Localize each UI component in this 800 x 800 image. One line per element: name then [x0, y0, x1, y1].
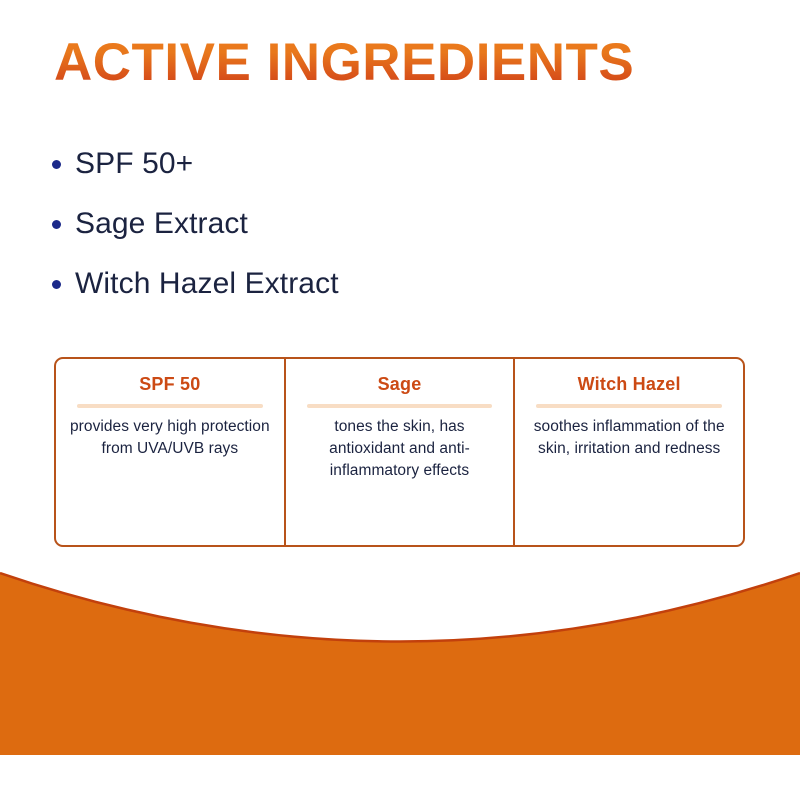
column-header: Witch Hazel: [578, 373, 681, 395]
list-item: Sage Extract: [52, 194, 652, 254]
table-column-spf50: SPF 50 provides very high protection fro…: [56, 359, 284, 545]
ingredient-info-table: SPF 50 provides very high protection fro…: [54, 357, 745, 547]
column-body-text: provides very high protection from UVA/U…: [70, 416, 270, 460]
bullet-dot-icon: [52, 160, 61, 169]
column-divider-rule: [77, 404, 263, 408]
bullet-label: SPF 50+: [75, 147, 193, 181]
bullet-dot-icon: [52, 220, 61, 229]
orange-curve-shape: [0, 573, 800, 755]
column-header: Sage: [378, 373, 422, 395]
page-title: ACTIVE INGREDIENTS: [54, 33, 754, 93]
column-divider-rule: [307, 404, 493, 408]
column-body-text: soothes inflammation of the skin, irrita…: [529, 416, 729, 460]
list-item: SPF 50+: [52, 134, 652, 194]
table-column-sage: Sage tones the skin, has antioxidant and…: [284, 359, 514, 545]
column-header: SPF 50: [139, 373, 200, 395]
table-column-witch-hazel: Witch Hazel soothes inflammation of the …: [513, 359, 743, 545]
column-body-text: tones the skin, has antioxidant and anti…: [300, 416, 500, 482]
slide-canvas: ACTIVE INGREDIENTS SPF 50+ Sage Extract …: [0, 0, 800, 800]
bullet-label: Witch Hazel Extract: [75, 267, 339, 301]
orange-curve-band: [0, 560, 800, 800]
ingredient-bullet-list: SPF 50+ Sage Extract Witch Hazel Extract: [52, 134, 652, 314]
list-item: Witch Hazel Extract: [52, 254, 652, 314]
bullet-dot-icon: [52, 280, 61, 289]
bullet-label: Sage Extract: [75, 207, 248, 241]
column-divider-rule: [536, 404, 722, 408]
